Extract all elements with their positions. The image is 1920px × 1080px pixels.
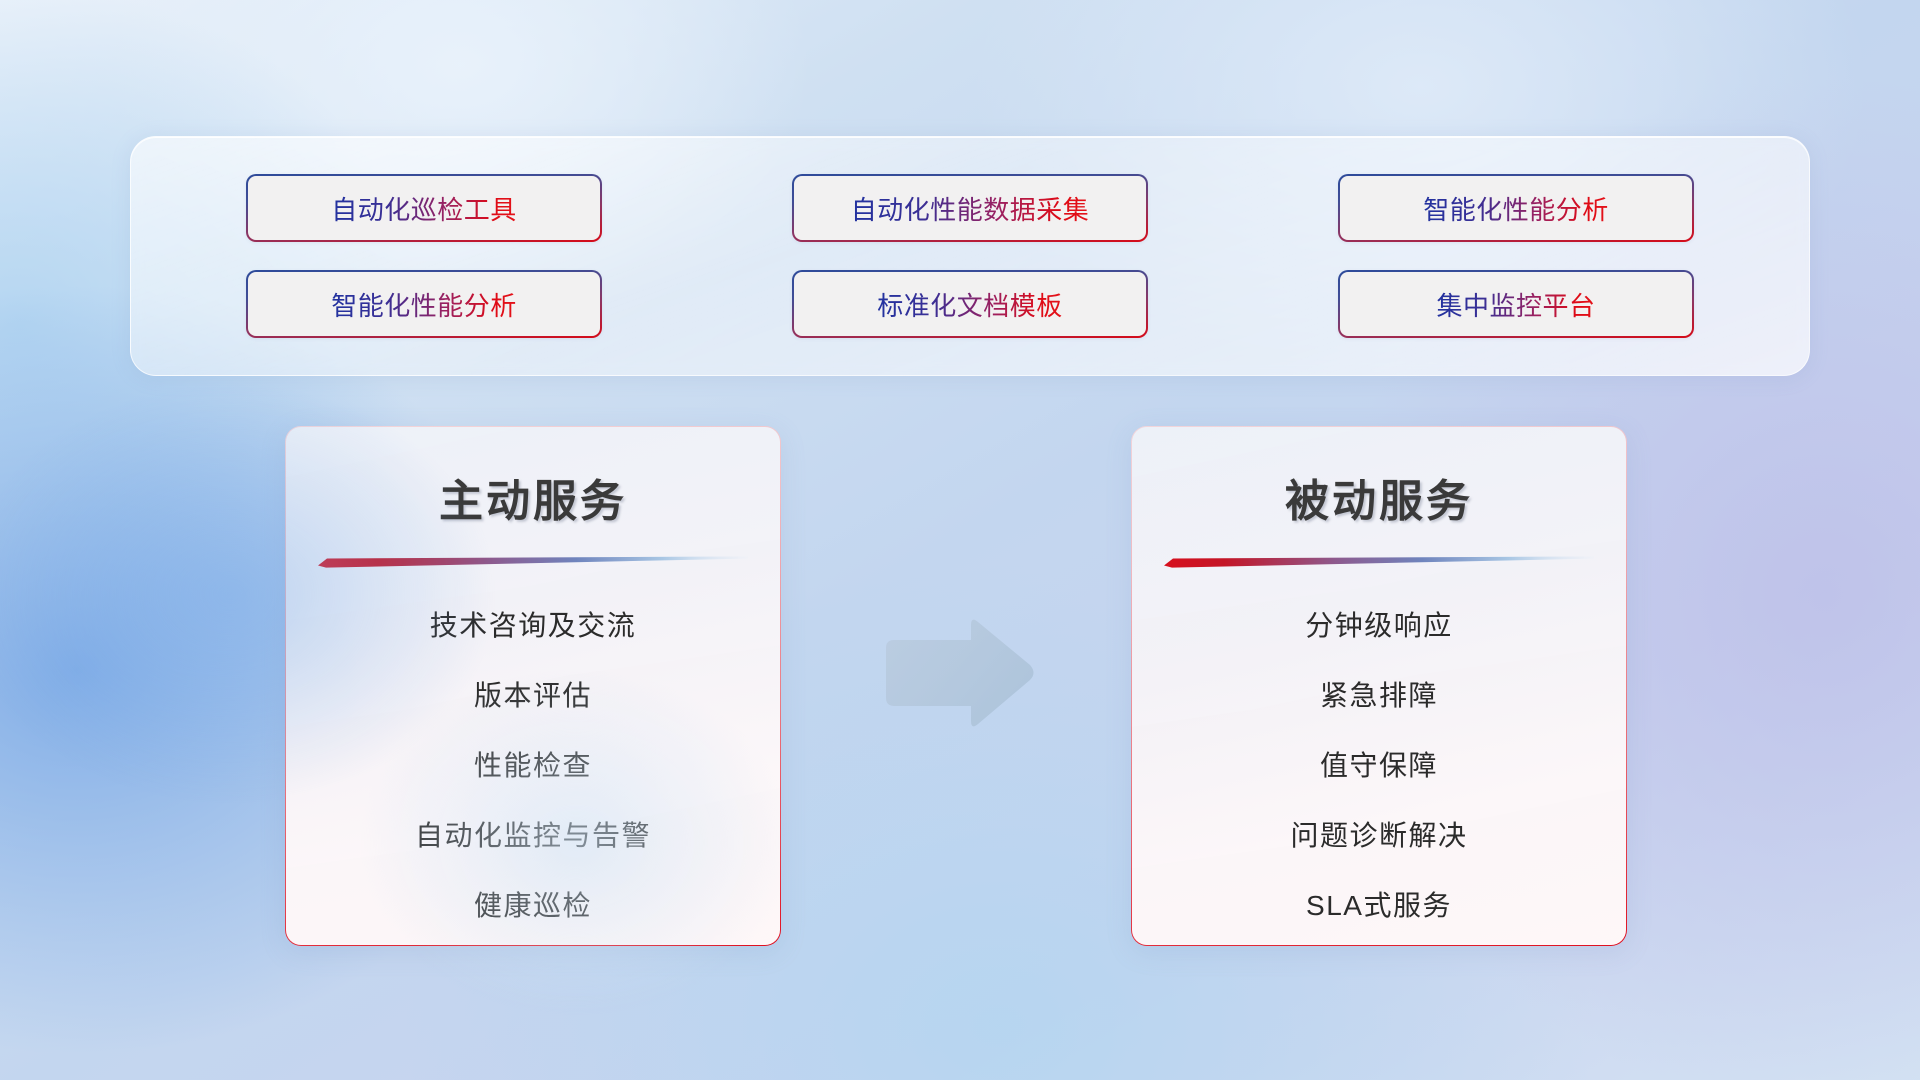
capability-pill-label: 标准化文档模板 bbox=[877, 286, 1063, 323]
capability-pill-label: 自动化性能数据采集 bbox=[851, 190, 1090, 227]
list-item: 性能检查 bbox=[474, 731, 592, 801]
reactive-service-list: 分钟级响应 紧急排障 值守保障 问题诊断解决 SLA式服务 bbox=[1162, 591, 1596, 941]
list-item: SLA式服务 bbox=[1306, 871, 1452, 941]
capability-pill-label: 自动化巡检工具 bbox=[331, 190, 517, 227]
capability-pill[interactable]: 集中监控平台 bbox=[1338, 270, 1694, 338]
arrow-right-icon bbox=[878, 614, 1038, 732]
title-divider bbox=[318, 555, 748, 569]
title-divider bbox=[1164, 555, 1594, 569]
list-item: 技术咨询及交流 bbox=[430, 591, 637, 661]
list-item: 分钟级响应 bbox=[1305, 591, 1453, 661]
capability-pill[interactable]: 智能化性能分析 bbox=[1338, 174, 1694, 242]
proactive-service-title: 主动服务 bbox=[439, 465, 627, 529]
proactive-service-card: 主动服务 技术咨询及交流 版本评估 性能检查 bbox=[285, 426, 781, 946]
list-item: 自动化监控与告警 bbox=[415, 801, 651, 871]
capability-pill-label: 集中监控平台 bbox=[1436, 286, 1595, 323]
list-item: 紧急排障 bbox=[1320, 661, 1438, 731]
reactive-service-card: 被动服务 分钟级响应 紧急排障 值守保障 bbox=[1131, 426, 1627, 946]
capability-pill[interactable]: 标准化文档模板 bbox=[792, 270, 1148, 338]
capability-pill[interactable]: 自动化性能数据采集 bbox=[792, 174, 1148, 242]
capability-pill-label: 智能化性能分析 bbox=[331, 286, 517, 323]
list-item: 问题诊断解决 bbox=[1290, 801, 1467, 871]
reactive-service-title: 被动服务 bbox=[1285, 465, 1473, 529]
capability-panel: 自动化巡检工具 自动化性能数据采集 智能化性能分析 智能化性能分析 标准化文档模… bbox=[130, 136, 1810, 376]
list-item: 版本评估 bbox=[474, 661, 592, 731]
capability-pill[interactable]: 自动化巡检工具 bbox=[246, 174, 602, 242]
capability-pill-label: 智能化性能分析 bbox=[1423, 190, 1609, 227]
proactive-service-list: 技术咨询及交流 版本评估 性能检查 自动化监控与告警 健康巡检 bbox=[316, 591, 750, 941]
capability-pill[interactable]: 智能化性能分析 bbox=[246, 270, 602, 338]
list-item: 值守保障 bbox=[1320, 731, 1438, 801]
list-item: 健康巡检 bbox=[474, 871, 592, 941]
slide-canvas: 自动化巡检工具 自动化性能数据采集 智能化性能分析 智能化性能分析 标准化文档模… bbox=[0, 0, 1920, 1080]
